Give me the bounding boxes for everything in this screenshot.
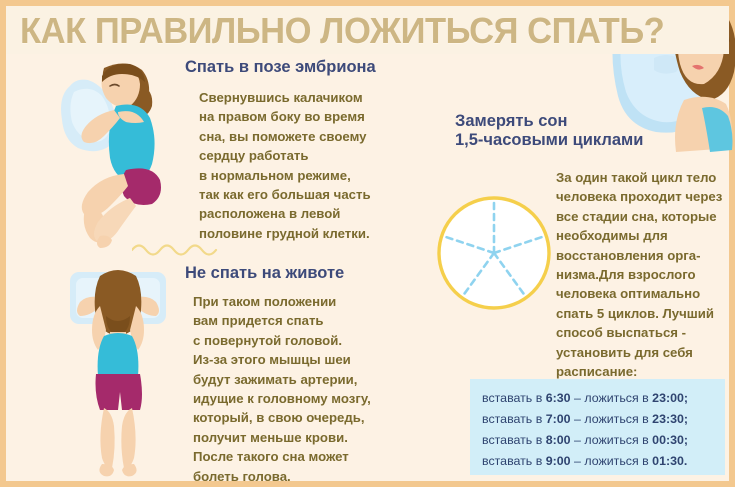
page-title: КАК ПРАВИЛЬНО ЛОЖИТЬСЯ СПАТЬ? [20, 10, 664, 52]
schedule-wake-time-3: 9:00 [546, 454, 571, 468]
schedule-separator-3: – [571, 454, 585, 468]
schedule-row: вставать в 6:30 – ложиться в 23:00; [482, 388, 725, 409]
paragraph-fetal-position: Свернувшись калачиком на правом боку во … [199, 88, 414, 243]
heading-sleep-cycles: Замерять сон 1,5-часовыми циклами [455, 112, 643, 150]
heading-no-stomach-sleeping: Не спать на животе [185, 264, 344, 283]
sleep-schedule-box: вставать в 6:30 – ложиться в 23:00; вста… [470, 379, 725, 475]
schedule-row: вставать в 9:00 – ложиться в 01:30. [482, 451, 725, 472]
schedule-wake-time-2: 8:00 [546, 433, 571, 447]
schedule-wake-label-2: вставать в [482, 433, 546, 447]
schedule-sleep-label-2: ложиться в [584, 433, 652, 447]
heading-fetal-position: Спать в позе эмбриона [185, 58, 376, 77]
schedule-sleep-label-0: ложиться в [584, 391, 652, 405]
schedule-separator-1: – [571, 412, 585, 426]
woman-sleeping-on-stomach-illustration [48, 258, 188, 480]
schedule-separator-2: – [571, 433, 585, 447]
schedule-sleep-time-1: 23:30; [652, 412, 688, 426]
schedule-wake-label-3: вставать в [482, 454, 546, 468]
schedule-wake-time-1: 7:00 [546, 412, 571, 426]
schedule-sleep-time-2: 00:30; [652, 433, 688, 447]
schedule-row: вставать в 7:00 – ложиться в 23:30; [482, 409, 725, 430]
sleep-infographic-poster: КАК ПРАВИЛЬНО ЛОЖИТЬСЯ СПАТЬ? Спать в по… [0, 0, 735, 487]
schedule-row: вставать в 8:00 – ложиться в 00:30; [482, 430, 725, 451]
schedule-separator-0: – [571, 391, 585, 405]
schedule-sleep-label-1: ложиться в [584, 412, 652, 426]
schedule-wake-label-0: вставать в [482, 391, 546, 405]
schedule-sleep-time-3: 01:30. [652, 454, 687, 468]
poster-title-band: КАК ПРАВИЛЬНО ЛОЖИТЬСЯ СПАТЬ? [6, 6, 729, 54]
paragraph-sleep-cycles: За один такой цикл тело человека проходи… [556, 168, 735, 381]
schedule-wake-time-0: 6:30 [546, 391, 571, 405]
schedule-sleep-label-3: ложиться в [584, 454, 652, 468]
schedule-sleep-time-0: 23:00; [652, 391, 688, 405]
sleep-cycle-pie-diagram [435, 194, 553, 312]
schedule-wake-label-1: вставать в [482, 412, 546, 426]
paragraph-no-stomach-sleeping: При таком положении вам придется спать с… [193, 292, 408, 486]
woman-sleeping-fetal-position-illustration [44, 48, 196, 248]
